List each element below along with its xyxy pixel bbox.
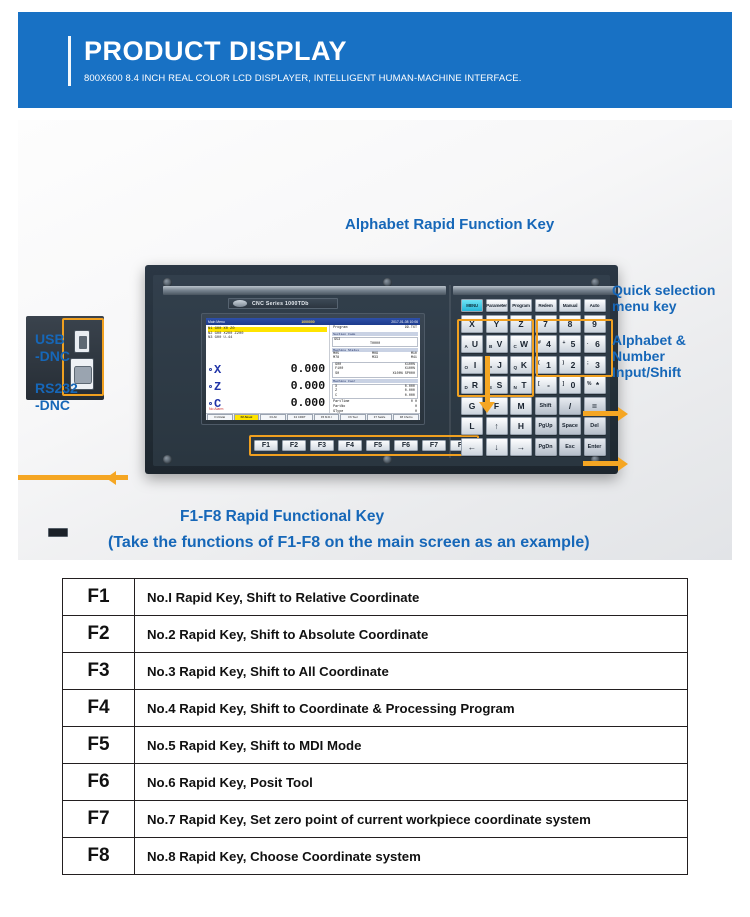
table-desc-cell: No.5 Rapid Key, Shift to MDI Mode bbox=[135, 727, 688, 764]
table-key-cell: F8 bbox=[63, 838, 135, 875]
table-row: F1No.I Rapid Key, Shift to Relative Coor… bbox=[63, 579, 688, 616]
key-label: * bbox=[596, 380, 599, 390]
table-desc-cell: No.7 Rapid Key, Set zero point of curren… bbox=[135, 801, 688, 838]
key-[interactable]: ← bbox=[461, 438, 483, 456]
keypad-row: ←↓→PgDnEscEnter bbox=[461, 438, 607, 456]
key-program[interactable]: Program bbox=[510, 299, 532, 312]
axis-row: C 0.000 bbox=[206, 395, 329, 412]
lcd-status-tab[interactable]: F3 All bbox=[260, 414, 286, 421]
lcd-status-tab[interactable]: F2 Absol bbox=[234, 414, 260, 421]
callout-alphabet-rapid: Alphabet Rapid Function Key bbox=[345, 216, 554, 233]
lcd-status-tab[interactable]: F5 M.D.I bbox=[314, 414, 340, 421]
usb-port-icon bbox=[74, 330, 90, 353]
key-prefix: . bbox=[587, 340, 588, 346]
callout-quick-menu-line2: menu key bbox=[612, 298, 715, 314]
key-shift[interactable]: Shift bbox=[535, 397, 557, 415]
key-[interactable]: → bbox=[510, 438, 532, 456]
key-label: 6 bbox=[595, 339, 600, 349]
arrow-to-alphabet-keys bbox=[485, 356, 490, 404]
program-name-row: Program 99.TXT bbox=[332, 326, 418, 331]
key-prefix: + bbox=[563, 340, 566, 346]
key-subscript: C bbox=[514, 344, 517, 349]
callout-usb: USB -DNC bbox=[35, 331, 70, 365]
status-code-row: M78 M33 M41 bbox=[332, 356, 418, 361]
key-label: Shift bbox=[540, 403, 552, 409]
machine-coord-box: X 0.000 Z 0.000 C 0.000 bbox=[332, 384, 418, 400]
fkey-f4[interactable]: F4 bbox=[338, 440, 362, 451]
table-desc-cell: No.3 Rapid Key, Shift to All Coordinate bbox=[135, 653, 688, 690]
key-2[interactable]: )2 bbox=[559, 356, 581, 374]
arrowhead-down-icon bbox=[479, 402, 495, 413]
table-key-cell: F4 bbox=[63, 690, 135, 727]
machine-coord-header: Machine Coor bbox=[332, 379, 418, 383]
axis-value: 0.000 bbox=[291, 363, 326, 376]
key-label: → bbox=[517, 442, 526, 452]
lcd-status-tab[interactable]: F7 SetZe bbox=[367, 414, 393, 421]
arrow-to-quick-menu bbox=[583, 411, 621, 416]
lcd-body: N1 G00 X0 Z0 N2 G00 X200 Z200 N3 G00 U-4… bbox=[206, 325, 420, 413]
callout-usb-line1: USB bbox=[35, 331, 70, 348]
key-label: M bbox=[517, 401, 524, 411]
key-pgup[interactable]: PgUp bbox=[535, 417, 557, 435]
keypad-function-row: MENU Parameter Program Redem Manual Auto bbox=[461, 299, 607, 312]
model-nameplate: CNC Series 1000TDb bbox=[228, 298, 338, 309]
key-label: 2 bbox=[571, 360, 576, 370]
callout-alnum-line3: Input/Shift bbox=[612, 364, 686, 380]
cnc-controller: CNC Series 1000TDb Main Menu 1000000 201… bbox=[145, 265, 618, 474]
keypad: MENU Parameter Program Redem Manual Auto… bbox=[461, 299, 607, 467]
key-pgdn[interactable]: PgDn bbox=[535, 438, 557, 456]
brand-logo-icon bbox=[233, 300, 247, 307]
key-[interactable]: %* bbox=[584, 376, 606, 394]
key-label: I bbox=[474, 360, 476, 370]
key-l[interactable]: L bbox=[461, 417, 483, 435]
arrowhead-left-icon bbox=[106, 471, 116, 485]
feed-code: S0 bbox=[335, 372, 339, 377]
keypad-row: L↑HPgUpSpaceDel bbox=[461, 417, 607, 435]
key-label: H bbox=[518, 421, 524, 431]
key-label: 8 bbox=[568, 319, 573, 329]
key-label: ↓ bbox=[494, 442, 498, 452]
callout-quick-menu-line1: Quick selection bbox=[612, 282, 715, 298]
key-parameter[interactable]: Parameter bbox=[486, 299, 508, 312]
key-u[interactable]: AU bbox=[461, 335, 483, 353]
key-label: 1 bbox=[546, 360, 551, 370]
key-label: T bbox=[521, 380, 526, 390]
key-z[interactable]: Z bbox=[510, 315, 532, 333]
key-[interactable]: [- bbox=[535, 376, 557, 394]
lcd-left-pane: N1 G00 X0 Z0 N2 G00 X200 Z200 N3 G00 U-4… bbox=[206, 325, 330, 413]
key-label: Enter bbox=[588, 444, 602, 450]
coord-value: 0.000 bbox=[405, 394, 415, 399]
table-key-cell: F6 bbox=[63, 764, 135, 801]
key-v[interactable]: BV bbox=[486, 335, 508, 353]
table-row: F5No.5 Rapid Key, Shift to MDI Mode bbox=[63, 727, 688, 764]
key-label: G bbox=[469, 401, 476, 411]
key-i[interactable]: OI bbox=[461, 356, 483, 374]
feed-pct: X100% SP000 bbox=[393, 372, 415, 377]
fkey-f5[interactable]: F5 bbox=[366, 440, 390, 451]
table-key-cell: F7 bbox=[63, 801, 135, 838]
lcd-right-pane: Program 99.TXT Section Code G53 T0000 Ma… bbox=[330, 325, 420, 413]
screw-icon bbox=[383, 455, 392, 464]
key-3[interactable]: ;3 bbox=[584, 356, 606, 374]
key-label: J bbox=[497, 360, 502, 370]
key-label: R bbox=[472, 380, 478, 390]
key-prefix: ] bbox=[563, 381, 565, 387]
lcd-bezel: Main Menu 1000000 2017-01-08 10:06 N1 G0… bbox=[201, 313, 425, 425]
keypad-main-rows: XYZ789AUBVCW#4+5.6OIPJQK(1)2;3DRESNT[-]0… bbox=[461, 315, 607, 456]
fkey-f7[interactable]: F7 bbox=[422, 440, 446, 451]
key-y[interactable]: Y bbox=[486, 315, 508, 333]
axis-row: X 0.000 bbox=[206, 361, 329, 378]
key-prefix: ( bbox=[538, 360, 540, 366]
program-label: Program bbox=[333, 326, 347, 331]
key-subscript: D bbox=[465, 385, 468, 390]
code-value: T0000 bbox=[334, 342, 416, 346]
lcd-screen: Main Menu 1000000 2017-01-08 10:06 N1 G0… bbox=[206, 318, 420, 420]
header-accent-bar bbox=[68, 36, 71, 86]
axis-name: X bbox=[214, 363, 230, 377]
keypad-row: OIPJQK(1)2;3 bbox=[461, 356, 607, 374]
key-subscript: Q bbox=[514, 365, 518, 370]
callout-alnum-line2: Number bbox=[612, 348, 686, 364]
status-code: M78 bbox=[333, 356, 339, 361]
table-key-cell: F1 bbox=[63, 579, 135, 616]
controller-face: CNC Series 1000TDb Main Menu 1000000 201… bbox=[153, 275, 610, 466]
key-label: PgUp bbox=[538, 423, 552, 429]
key-label: V bbox=[497, 339, 503, 349]
key-label: Space bbox=[562, 423, 578, 429]
program-name: 99.TXT bbox=[405, 326, 417, 331]
key-label: K bbox=[521, 360, 527, 370]
keypad-row: XYZ789 bbox=[461, 315, 607, 333]
key-esc[interactable]: Esc bbox=[559, 438, 581, 456]
lcd-titlebar-left: Main Menu bbox=[208, 320, 225, 324]
key-label: U bbox=[472, 339, 478, 349]
key-label: 5 bbox=[571, 339, 576, 349]
key-k[interactable]: QK bbox=[510, 356, 532, 374]
key-7[interactable]: 7 bbox=[535, 315, 557, 333]
keypad-row: DRESNT[-]0%* bbox=[461, 376, 607, 394]
model-label: CNC Series 1000TDb bbox=[252, 301, 309, 307]
key-label: W bbox=[520, 339, 528, 349]
key-prefix: [ bbox=[538, 381, 540, 387]
section-code-header: Section Code bbox=[332, 332, 418, 336]
key-label: / bbox=[569, 401, 571, 411]
key-label: 7 bbox=[543, 319, 548, 329]
key-manual[interactable]: Manual bbox=[559, 299, 581, 312]
status-code: M41 bbox=[411, 356, 417, 361]
key-label: X bbox=[469, 319, 475, 329]
key-subscript: O bbox=[465, 365, 469, 370]
key-0[interactable]: ]0 bbox=[559, 376, 581, 394]
table-row: F2No.2 Rapid Key, Shift to Absolute Coor… bbox=[63, 616, 688, 653]
key-m[interactable]: M bbox=[510, 397, 532, 415]
callout-fkey-example: (Take the functions of F1-F8 on the main… bbox=[108, 534, 590, 552]
key-9[interactable]: 9 bbox=[584, 315, 606, 333]
axis-bullet-icon bbox=[209, 368, 212, 371]
key-r[interactable]: DR bbox=[461, 376, 483, 394]
coord-row: C 0.000 bbox=[334, 394, 416, 399]
key-subscript: A bbox=[465, 344, 468, 349]
key-auto[interactable]: Auto bbox=[584, 299, 606, 312]
table-row: F8No.8 Rapid Key, Choose Coordinate syst… bbox=[63, 838, 688, 875]
callout-quick-menu: Quick selection menu key bbox=[612, 282, 715, 314]
axis-bullet-icon bbox=[209, 385, 212, 388]
callout-rs232: RS232 -DNC bbox=[35, 380, 78, 414]
fkey-f2[interactable]: F2 bbox=[282, 440, 306, 451]
table-key-cell: F3 bbox=[63, 653, 135, 690]
fkey-f1[interactable]: F1 bbox=[254, 440, 278, 451]
product-display-page: PRODUCT DISPLAY 800X600 8.4 INCH REAL CO… bbox=[0, 0, 750, 917]
key-enter[interactable]: Enter bbox=[584, 438, 606, 456]
key-subscript: B bbox=[489, 344, 492, 349]
key-subscript: N bbox=[514, 385, 517, 390]
keypad-row: AUBVCW#4+5.6 bbox=[461, 335, 607, 353]
arrowhead-right-icon bbox=[618, 407, 628, 421]
key-label: PgDn bbox=[538, 444, 552, 450]
callout-alnum: Alphabet & Number Input/Shift bbox=[612, 332, 686, 380]
key-label: Esc bbox=[565, 444, 575, 450]
key-label: 3 bbox=[595, 360, 600, 370]
program-block: N1 G00 X0 Z0 N2 G00 X200 Z200 N3 G00 U-4… bbox=[206, 325, 329, 341]
key-label: S bbox=[497, 380, 503, 390]
key-label: L bbox=[469, 421, 474, 431]
table-desc-cell: No.8 Rapid Key, Choose Coordinate system bbox=[135, 838, 688, 875]
lcd-titlebar: Main Menu 1000000 2017-01-08 10:06 bbox=[206, 318, 420, 325]
key-h[interactable]: H bbox=[510, 417, 532, 435]
key-space[interactable]: Space bbox=[559, 417, 581, 435]
table-desc-cell: No.6 Rapid Key, Posit Tool bbox=[135, 764, 688, 801]
key-1[interactable]: (1 bbox=[535, 356, 557, 374]
axis-row: Z 0.000 bbox=[206, 378, 329, 395]
key-label: = bbox=[592, 401, 597, 411]
key-[interactable]: / bbox=[559, 397, 581, 415]
callout-fkey-title: F1-F8 Rapid Functional Key bbox=[180, 508, 384, 526]
axis-readout-block: X 0.000 Z 0.000 bbox=[206, 361, 329, 412]
page-subtitle: 800X600 8.4 INCH REAL COLOR LCD DISPLAYE… bbox=[84, 73, 521, 84]
key-t[interactable]: NT bbox=[510, 376, 532, 394]
key-x[interactable]: X bbox=[461, 315, 483, 333]
lcd-status-tab[interactable]: F6 Tool bbox=[340, 414, 366, 421]
key-menu[interactable]: MENU bbox=[461, 299, 483, 312]
fkey-strip: F1 F2 F3 F4 F5 F6 F7 F8 bbox=[249, 435, 479, 456]
table-desc-cell: No.I Rapid Key, Shift to Relative Coordi… bbox=[135, 579, 688, 616]
usb-slot-recess bbox=[48, 528, 68, 537]
screw-icon bbox=[163, 455, 172, 464]
lcd-titlebar-right: 2017-01-08 10:06 bbox=[391, 320, 418, 324]
key-label: ↑ bbox=[494, 421, 498, 431]
key-prefix: # bbox=[538, 340, 541, 346]
axis-value: 0.000 bbox=[291, 380, 326, 393]
table-desc-cell: No.4 Rapid Key, Shift to Coordinate & Pr… bbox=[135, 690, 688, 727]
arrowhead-right-icon bbox=[618, 457, 628, 471]
callout-rs232-line2: -DNC bbox=[35, 397, 78, 414]
fkey-function-table: F1No.I Rapid Key, Shift to Relative Coor… bbox=[62, 578, 688, 875]
page-title: PRODUCT DISPLAY bbox=[84, 38, 347, 65]
feed-box: G00 X100% F100 X100% S0 bbox=[332, 362, 418, 378]
key-label: ← bbox=[468, 442, 477, 452]
key-prefix: ) bbox=[563, 360, 565, 366]
code-box: G53 T0000 bbox=[332, 337, 418, 347]
top-trim-strip bbox=[163, 286, 446, 295]
fkey-f3[interactable]: F3 bbox=[310, 440, 334, 451]
axis-name: Z bbox=[214, 380, 230, 394]
key-prefix: ; bbox=[587, 360, 589, 366]
table-key-cell: F5 bbox=[63, 727, 135, 764]
table-desc-cell: No.2 Rapid Key, Shift to Absolute Coordi… bbox=[135, 616, 688, 653]
key-label: 0 bbox=[571, 380, 576, 390]
coord-name: C bbox=[335, 394, 337, 399]
table-row: F7No.7 Rapid Key, Set zero point of curr… bbox=[63, 801, 688, 838]
lcd-status-tabs: F1 Relat F2 Absol F3 All F4 CRDT F5 M.D.… bbox=[206, 413, 420, 420]
key-redeem[interactable]: Redem bbox=[535, 299, 557, 312]
status-code: M33 bbox=[372, 356, 378, 361]
arrow-to-alnum-keys bbox=[583, 461, 621, 466]
lcd-status-tab[interactable]: F4 CRDT bbox=[287, 414, 313, 421]
table-key-cell: F2 bbox=[63, 616, 135, 653]
lcd-status-tab[interactable]: F8 ChoCo bbox=[393, 414, 419, 421]
key-del[interactable]: Del bbox=[584, 417, 606, 435]
callout-alnum-line1: Alphabet & bbox=[612, 332, 686, 348]
program-line: N3 G00 U-44 bbox=[208, 336, 327, 341]
key-label: Y bbox=[494, 319, 500, 329]
key-prefix: % bbox=[587, 381, 591, 387]
key-label: Del bbox=[590, 423, 598, 429]
key-label: 9 bbox=[592, 319, 597, 329]
axis-bullet-icon bbox=[209, 402, 212, 405]
page-header: PRODUCT DISPLAY 800X600 8.4 INCH REAL CO… bbox=[18, 12, 732, 108]
lcd-status-tab[interactable]: F1 Relat bbox=[207, 414, 233, 421]
alarm-status: No Alarm bbox=[209, 407, 223, 411]
axis-value: 0.000 bbox=[291, 397, 326, 410]
callout-usb-line2: -DNC bbox=[35, 348, 70, 365]
key-6[interactable]: .6 bbox=[584, 335, 606, 353]
table-row: F3No.3 Rapid Key, Shift to All Coordinat… bbox=[63, 653, 688, 690]
table-row: F4No.4 Rapid Key, Shift to Coordinate & … bbox=[63, 690, 688, 727]
lcd-titlebar-mid: 1000000 bbox=[301, 320, 314, 324]
key-[interactable]: ↓ bbox=[486, 438, 508, 456]
key-w[interactable]: CW bbox=[510, 335, 532, 353]
callout-rs232-line1: RS232 bbox=[35, 380, 78, 397]
panel-divider bbox=[449, 285, 451, 458]
key-label: 4 bbox=[546, 339, 551, 349]
table-row: F6No.6 Rapid Key, Posit Tool bbox=[63, 764, 688, 801]
fkey-f6[interactable]: F6 bbox=[394, 440, 418, 451]
key-label: - bbox=[547, 380, 550, 390]
key-4[interactable]: #4 bbox=[535, 335, 557, 353]
top-trim-strip-right bbox=[453, 286, 616, 295]
key-label: Z bbox=[518, 319, 523, 329]
key-8[interactable]: 8 bbox=[559, 315, 581, 333]
feed-row: S0 X100% SP000 bbox=[334, 372, 416, 377]
key-5[interactable]: +5 bbox=[559, 335, 581, 353]
key-[interactable]: ↑ bbox=[486, 417, 508, 435]
